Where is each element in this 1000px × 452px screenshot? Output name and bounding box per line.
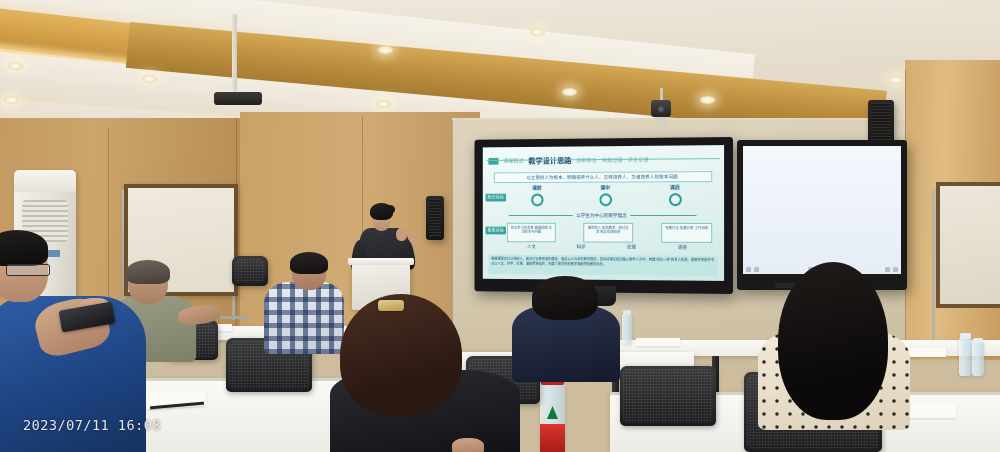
presenter-hair-bun [386,205,395,214]
hair-clip-icon [378,300,404,311]
toolbar-group-left[interactable] [746,267,759,272]
recessed-downlight [4,96,19,104]
slide-phase-before: 课前 [531,185,543,208]
recessed-downlight [142,75,157,83]
attendee-hairclip-hair [340,294,462,416]
presenter-hand-raised [396,228,407,241]
camera-wall-bracket [655,117,667,127]
slide-content-boxes: 自主学习任务单 微课视频 生活标本与问题 情境导入 探究教学 · 研讨交流 校企… [507,223,712,243]
attendee-hairclip-hand [452,438,484,452]
phase-header-during: 课中 [600,185,610,192]
slide-phase-after: 课后 [669,184,682,208]
camera-lens-icon [657,105,665,113]
slide-keywords: 人文 科学 伦理 道德 [507,244,708,252]
content-box-before: 自主学习任务单 微课视频 生活标本与问题 [507,223,556,243]
speaker-grille [429,199,441,237]
content-box-after: 专题讨论 拓展分享 工作训练 [661,223,712,243]
attendee-plaid-hair [290,252,328,274]
whiteboard-right-pole [932,190,935,340]
recessed-downlight [376,100,391,108]
recessed-downlight [378,46,393,54]
chair-mesh-back [623,369,713,423]
close-icon[interactable] [893,267,898,272]
table-paper [636,338,680,346]
photo-timestamp: 2023/07/11 16:08 [23,418,161,434]
phase-header-after: 课后 [670,184,680,191]
chair-mesh-back [235,259,265,283]
banner-text: 以学生为中心的教学理念 [576,212,627,219]
slide-nav-item-1-active[interactable]: 教学设计思路 [528,155,571,166]
attendee-polkadot-hair [778,262,888,420]
recessed-downlight [530,28,545,36]
slide-middle-banner: 以学生为中心的教学理念 [509,211,697,220]
attendee-plaid-torso [264,282,344,354]
eraser-icon[interactable] [754,267,759,272]
pen-icon[interactable] [746,267,751,272]
keyword-1: 科学 [577,244,586,251]
banner-rule-left [509,215,573,216]
attendee-navy-hair [532,276,598,320]
glasses-icon [6,264,50,276]
whiteboard-canvas[interactable] [743,146,901,274]
projector-mount-bracket [214,92,262,105]
phase-icon-after [669,193,682,206]
presenter-hand [409,232,419,244]
slide-lead-statement: 以立德树人为根本，明确培养什么人、怎样培养人、为谁培养人的根本问题 [494,171,712,183]
phase-icon-before [531,194,543,207]
recessed-downlight [700,96,715,104]
lectern-top [348,258,414,265]
toolbar-group-right[interactable] [885,267,898,272]
recessed-downlight [888,76,903,84]
mobile-whiteboard-right [936,182,1000,308]
phase-icon-during [599,193,611,206]
main-display[interactable]: 课程概述 教学设计思路 创新特色 实施过程 评价反馈 以立德树人为根本，明确培养… [474,137,733,294]
wall-speaker-left [426,196,444,240]
attendee-olive-hair [126,260,170,284]
water-bottle [959,338,972,376]
bottle-cap [973,338,983,343]
slide-phase-columns: 课前 课中 课后 [503,184,710,208]
presentation-slide: 课程概述 教学设计思路 创新特色 实施过程 评价反馈 以立德树人为根本，明确培养… [483,145,724,281]
slide-phase-during: 课中 [599,185,611,209]
classroom-photo: 课程概述 教学设计思路 创新特色 实施过程 评价反馈 以立德树人为根本，明确培养… [0,0,1000,452]
recessed-downlight [8,62,23,70]
keyword-3: 道德 [678,245,687,252]
ac-top-panel [14,170,76,192]
water-bottle [972,342,984,376]
mesh-office-chair[interactable] [620,366,716,426]
water-bottle [622,314,632,344]
projector-mount-pole [232,14,237,92]
bottle-cap [960,333,971,339]
settings-icon[interactable] [885,267,890,272]
slide-footer-paragraph: 根据课程定位立德树人，面向行业需求重构建设，落实以人为本的教育理念，坚持将理论知… [488,255,718,276]
phase-header-before: 课前 [532,185,541,192]
slide-label-quality: 素质目标 [486,227,506,235]
banner-rule-right [631,215,697,216]
display-screen: 课程概述 教学设计思路 创新特色 实施过程 评价反馈 以立德树人为根本，明确培养… [483,145,724,281]
whiteboard-foot [220,316,250,319]
bottle-cap [623,310,631,315]
wall-seam [452,120,453,335]
content-box-during: 情境导入 探究教学 · 研讨交流 校企双语师资 [583,223,633,243]
mesh-office-chair[interactable] [232,256,268,286]
recessed-downlight [562,88,577,96]
keyword-2: 伦理 [627,245,636,252]
keyword-0: 人文 [527,244,536,251]
bottle-label [540,424,565,452]
